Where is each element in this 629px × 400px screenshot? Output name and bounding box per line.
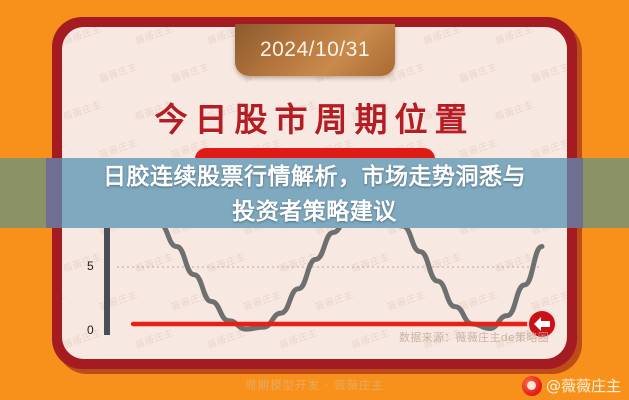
weibo-handle-label: @薇薇庄主: [546, 375, 621, 396]
weibo-handle: @薇薇庄主: [522, 375, 621, 396]
watermark-text: 薇薇庄主: [97, 59, 139, 86]
y-tick-label-5: 5: [87, 259, 94, 273]
watermark-text: 薇薇庄主: [62, 59, 67, 86]
weibo-eye-icon: [522, 376, 542, 396]
y-tick-label-0: 0: [87, 323, 94, 337]
watermark-text: 薇薇庄主: [133, 27, 175, 47]
watermark-text: 薇薇庄主: [169, 59, 211, 86]
screenshot-root: 薇薇庄主薇薇庄主薇薇庄主薇薇庄主薇薇庄主薇薇庄主薇薇庄主薇薇庄主薇薇庄主薇薇庄主…: [0, 0, 629, 400]
page-title: 今日股市周期位置: [0, 93, 629, 141]
watermark-text: 薇薇庄主: [457, 59, 499, 86]
watermark-text: 薇薇庄主: [421, 27, 463, 47]
data-source-note: 数据来源：薇薇庄主de策略圈: [399, 329, 549, 345]
overlay-headline: 日胶连续股票行情解析，市场走势洞悉与 投资者策略建议: [0, 160, 629, 230]
watermark-text: 薇薇庄主: [493, 27, 535, 47]
overlay-headline-line-2: 投资者策略建议: [0, 195, 629, 230]
watermark-text: 薇薇庄主: [529, 59, 567, 86]
date-badge: 2024/10/31: [235, 24, 395, 76]
overlay-headline-line-1: 日胶连续股票行情解析，市场走势洞悉与: [0, 160, 629, 195]
